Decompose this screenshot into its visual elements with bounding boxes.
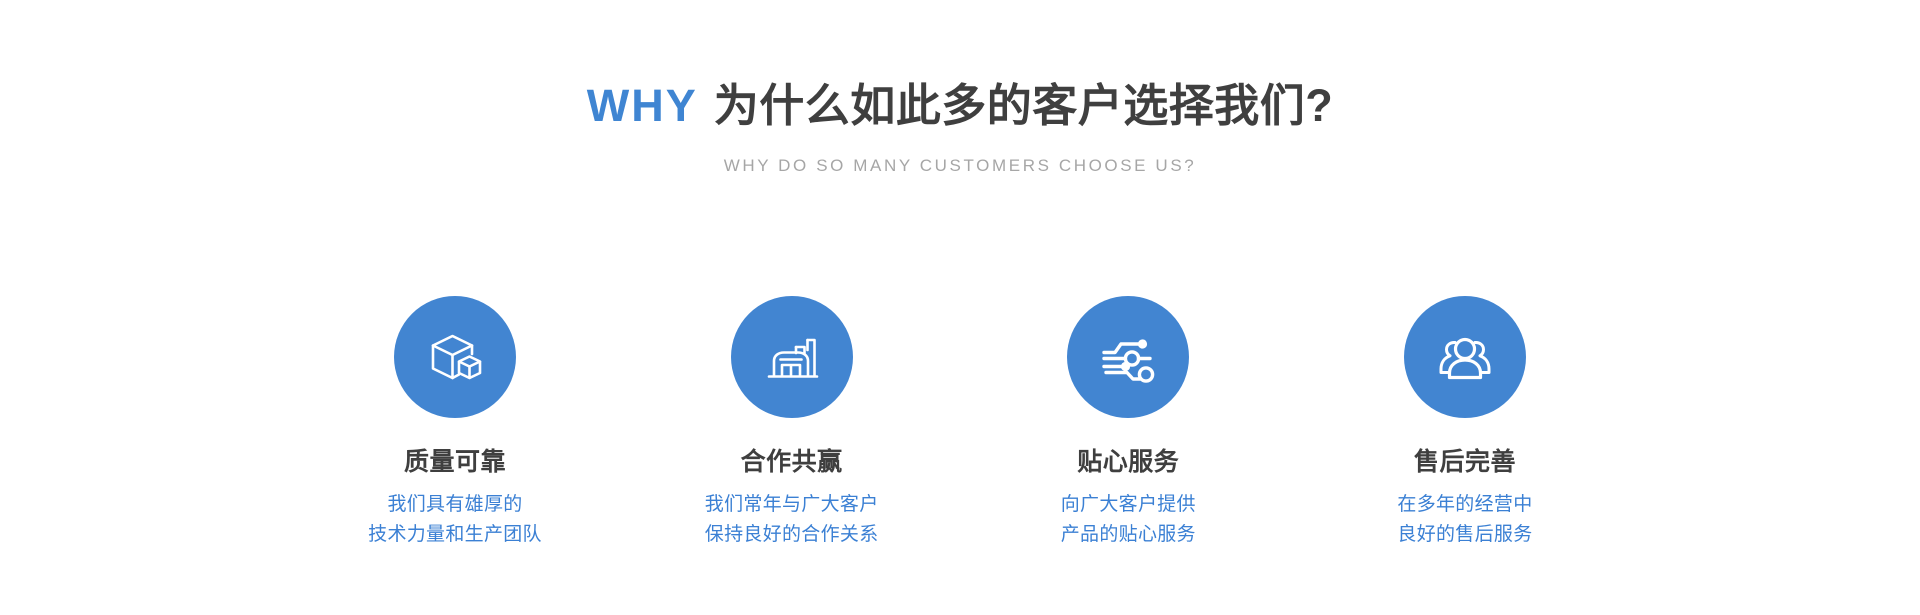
feature-card-quality[interactable]: 质量可靠 我们具有雄厚的 技术力量和生产团队 [305, 296, 605, 550]
circuit-nodes-icon [1094, 323, 1162, 391]
page-title: WHY为什么如此多的客户选择我们? [0, 78, 1920, 134]
feature-card-description: 向广大客户提供 产品的贴心服务 [1061, 490, 1196, 550]
section-heading: WHY为什么如此多的客户选择我们? WHY DO SO MANY CUSTOME… [0, 78, 1920, 176]
feature-card-aftersales[interactable]: 售后完善 在多年的经营中 良好的售后服务 [1315, 296, 1615, 550]
feature-card-description: 在多年的经营中 良好的售后服务 [1397, 490, 1532, 550]
description-line: 良好的售后服务 [1397, 520, 1532, 550]
why-choose-us-section: WHY为什么如此多的客户选择我们? WHY DO SO MANY CUSTOME… [0, 0, 1920, 615]
page-subtitle: WHY DO SO MANY CUSTOMERS CHOOSE US? [0, 156, 1920, 176]
feature-card-title: 贴心服务 [1077, 447, 1179, 477]
package-box-icon-circle [394, 296, 516, 418]
circuit-nodes-icon-circle [1067, 296, 1189, 418]
feature-cards-row: 质量可靠 我们具有雄厚的 技术力量和生产团队 [305, 296, 1615, 550]
description-line: 向广大客户提供 [1061, 490, 1196, 520]
package-box-icon [421, 323, 489, 391]
feature-card-cooperation[interactable]: 合作共赢 我们常年与广大客户 保持良好的合作关系 [642, 296, 942, 550]
description-line: 我们常年与广大客户 [705, 490, 879, 520]
feature-card-description: 我们常年与广大客户 保持良好的合作关系 [705, 490, 879, 550]
title-main-text: 为什么如此多的客户选择我们? [714, 80, 1334, 131]
people-group-icon [1431, 323, 1499, 391]
feature-card-service[interactable]: 贴心服务 向广大客户提供 产品的贴心服务 [978, 296, 1278, 550]
factory-icon-circle [731, 296, 853, 418]
description-line: 在多年的经营中 [1397, 490, 1532, 520]
description-line: 我们具有雄厚的 [368, 490, 542, 520]
feature-card-description: 我们具有雄厚的 技术力量和生产团队 [368, 490, 542, 550]
feature-card-title: 质量可靠 [404, 447, 506, 477]
title-prefix-why: WHY [587, 80, 698, 131]
description-line: 保持良好的合作关系 [705, 520, 879, 550]
feature-card-title: 合作共赢 [741, 447, 843, 477]
description-line: 技术力量和生产团队 [368, 520, 542, 550]
description-line: 产品的贴心服务 [1061, 520, 1196, 550]
feature-card-title: 售后完善 [1414, 447, 1516, 477]
people-group-icon-circle [1404, 296, 1526, 418]
factory-icon [758, 323, 826, 391]
